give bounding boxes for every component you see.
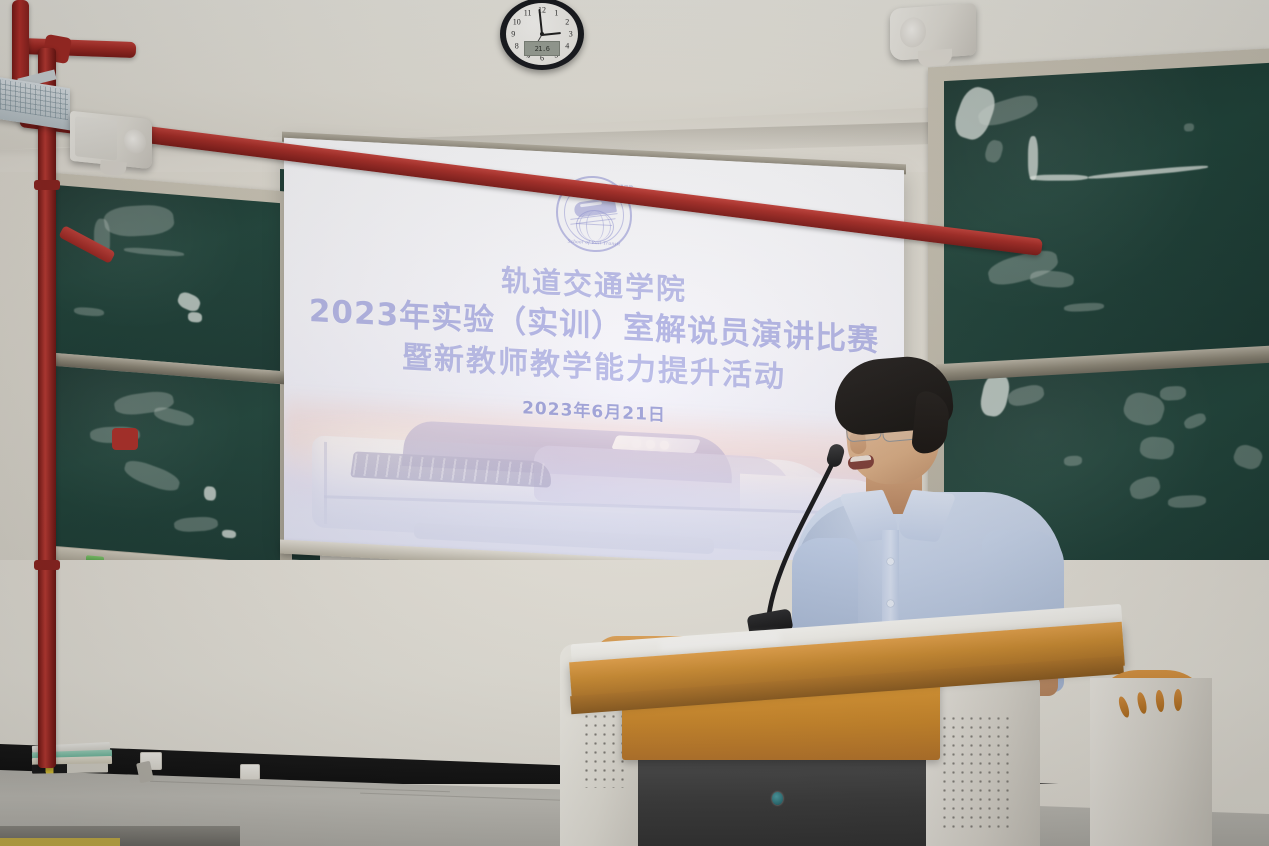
left-chalkboard-upper-panel [54, 185, 280, 371]
shirt-button [887, 558, 894, 565]
clock-number: 4 [565, 41, 569, 50]
clock-number: 3 [569, 30, 573, 39]
clock-hour-hand [542, 32, 561, 36]
wall-outlet[interactable] [240, 764, 260, 780]
sprinkler-standpipe [38, 48, 56, 768]
clock-number: 9 [511, 30, 515, 39]
classroom-photo-scene: 南京铁道职业技术学院轨道交通学院 School of Rail Transit … [0, 0, 1269, 846]
speaker-driver [900, 16, 926, 48]
pipe-valve [112, 428, 138, 450]
wall-clock: 12 1 2 3 4 5 6 7 8 9 10 11 21.6 [500, 0, 584, 70]
left-chalkboard-lower-panel [54, 366, 280, 564]
lectern-lock[interactable] [772, 792, 783, 805]
wall-speaker-right [890, 3, 976, 61]
side-desk [1080, 652, 1269, 846]
clock-digital-value: 21.6 [535, 45, 550, 53]
shirt-button [887, 600, 894, 607]
side-desk-cutout [1174, 689, 1182, 711]
stage-edge-stripe [0, 838, 120, 846]
clock-number: 8 [515, 41, 519, 50]
right-chalkboard-upper-panel [944, 63, 1269, 366]
pipe-collar [34, 180, 60, 190]
speaker-grille [75, 116, 117, 160]
clock-digital-display: 21.6 [524, 41, 560, 56]
wall-speaker-left [70, 111, 152, 170]
clock-center-pin [540, 32, 544, 36]
clock-face: 12 1 2 3 4 5 6 7 8 9 10 11 21.6 [506, 3, 578, 65]
clock-number: 2 [565, 18, 569, 27]
clock-number: 10 [513, 18, 521, 27]
speaker-driver [124, 128, 146, 154]
side-desk-panel [1090, 678, 1212, 846]
pipe-collar [34, 560, 60, 570]
lectern-vent-dots-right [940, 714, 1014, 832]
speaking-lectern [560, 616, 1120, 846]
clock-number: 1 [554, 8, 558, 17]
clock-number: 11 [524, 8, 532, 17]
